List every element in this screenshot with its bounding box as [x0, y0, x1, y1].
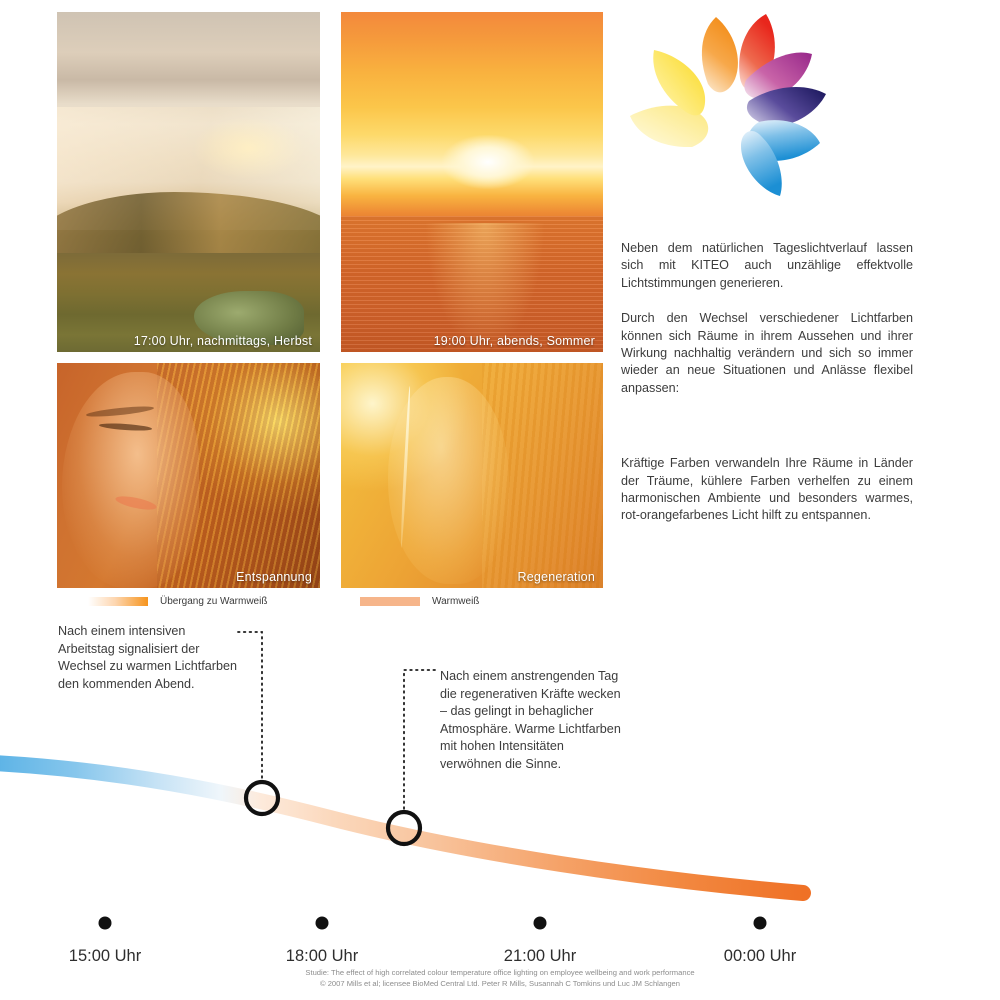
connector-line-abend — [238, 632, 262, 782]
footnote-line-2: © 2007 Mills et al; licensee BioMed Cent… — [0, 979, 1000, 990]
footnote-line-1: Studie: The effect of high correlated co… — [0, 968, 1000, 979]
paragraph-wechsel: Durch den Wechsel verschiedener Lichtfar… — [621, 310, 913, 397]
photo-entspannung: Entspannung — [57, 363, 320, 588]
paragraph-intro: Neben dem natürlichen Tageslichtverlauf … — [621, 240, 913, 292]
axis-label-1500: 15:00 Uhr — [69, 947, 141, 966]
photo-sun-reflection — [425, 223, 546, 352]
photo-caption: Regeneration — [518, 570, 595, 584]
axis-tick-dot-2100 — [534, 917, 547, 930]
body-copy: Neben dem natürlichen Tageslichtverlauf … — [621, 240, 913, 543]
logo-petal-orange — [702, 17, 738, 92]
light-curve-chart — [0, 600, 1000, 1000]
axis-label-1800: 18:00 Uhr — [286, 947, 358, 966]
photo-sun-disc — [442, 135, 534, 189]
footnote: Studie: The effect of high correlated co… — [0, 968, 1000, 989]
photo-caption: 19:00 Uhr, abends, Sommer — [434, 334, 595, 348]
kiteo-petal-logo — [624, 8, 836, 198]
connector-line-regeneration — [404, 670, 435, 812]
axis-label-2100: 21:00 Uhr — [504, 947, 576, 966]
photo-face-shape — [62, 372, 199, 588]
photo-caption: Entspannung — [236, 570, 312, 584]
photo-ocean-sunset: 19:00 Uhr, abends, Sommer — [341, 12, 603, 352]
axis-tick-dot-1800 — [316, 917, 329, 930]
light-intensity-curve — [0, 763, 803, 893]
axis-label-0000: 00:00 Uhr — [724, 947, 796, 966]
axis-tick-dot-0000 — [754, 917, 767, 930]
paragraph-farben: Kräftige Farben verwandeln Ihre Räume in… — [621, 455, 913, 525]
logo-petal-yellow — [653, 50, 705, 115]
page-root: 17:00 Uhr, nachmittags, Herbst 19:00 Uhr… — [0, 0, 1000, 1000]
photo-autumn-coast: 17:00 Uhr, nachmittags, Herbst — [57, 12, 320, 352]
photo-regeneration: Regeneration — [341, 363, 603, 588]
photo-caption: 17:00 Uhr, nachmittags, Herbst — [134, 334, 312, 348]
axis-tick-dot-1500 — [99, 917, 112, 930]
